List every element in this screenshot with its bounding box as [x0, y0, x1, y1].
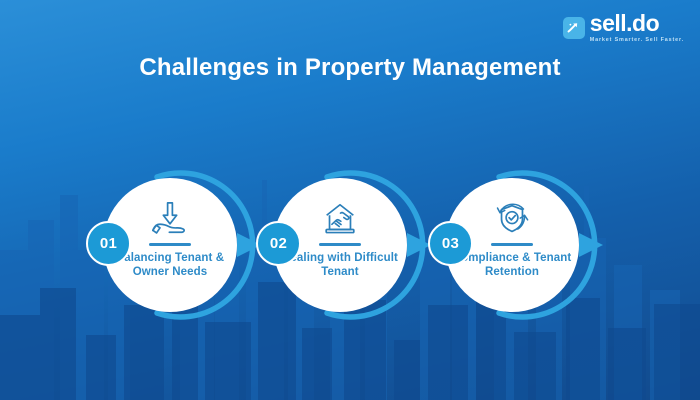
house-handshake-icon: [317, 200, 363, 240]
steps-container: Balancing Tenant & Owner Needs 01: [0, 165, 700, 325]
brand-name: sell.do: [590, 12, 659, 35]
page-title: Challenges in Property Management: [0, 54, 700, 82]
growth-arrow-icon: [563, 17, 585, 39]
brand-logo[interactable]: sell.do Market Smarter. Sell Faster.: [563, 12, 684, 44]
brand-tagline: Market Smarter. Sell Faster.: [590, 36, 684, 44]
card-divider: [491, 243, 533, 246]
hand-with-down-arrow-icon: [147, 200, 193, 240]
card-divider: [319, 243, 361, 246]
step-number-badge: 03: [428, 221, 473, 266]
step-item-03[interactable]: Compliance & Tenant Retention 03: [437, 165, 617, 325]
shield-check-refresh-icon: [489, 200, 535, 240]
card-divider: [149, 243, 191, 246]
infographic-canvas: sell.do Market Smarter. Sell Faster. Cha…: [0, 0, 700, 400]
step-number-badge: 02: [256, 221, 301, 266]
step-number-badge: 01: [86, 221, 131, 266]
step-item-01[interactable]: Balancing Tenant & Owner Needs 01: [95, 165, 275, 325]
step-item-02[interactable]: Dealing with Difficult Tenant 02: [265, 165, 445, 325]
